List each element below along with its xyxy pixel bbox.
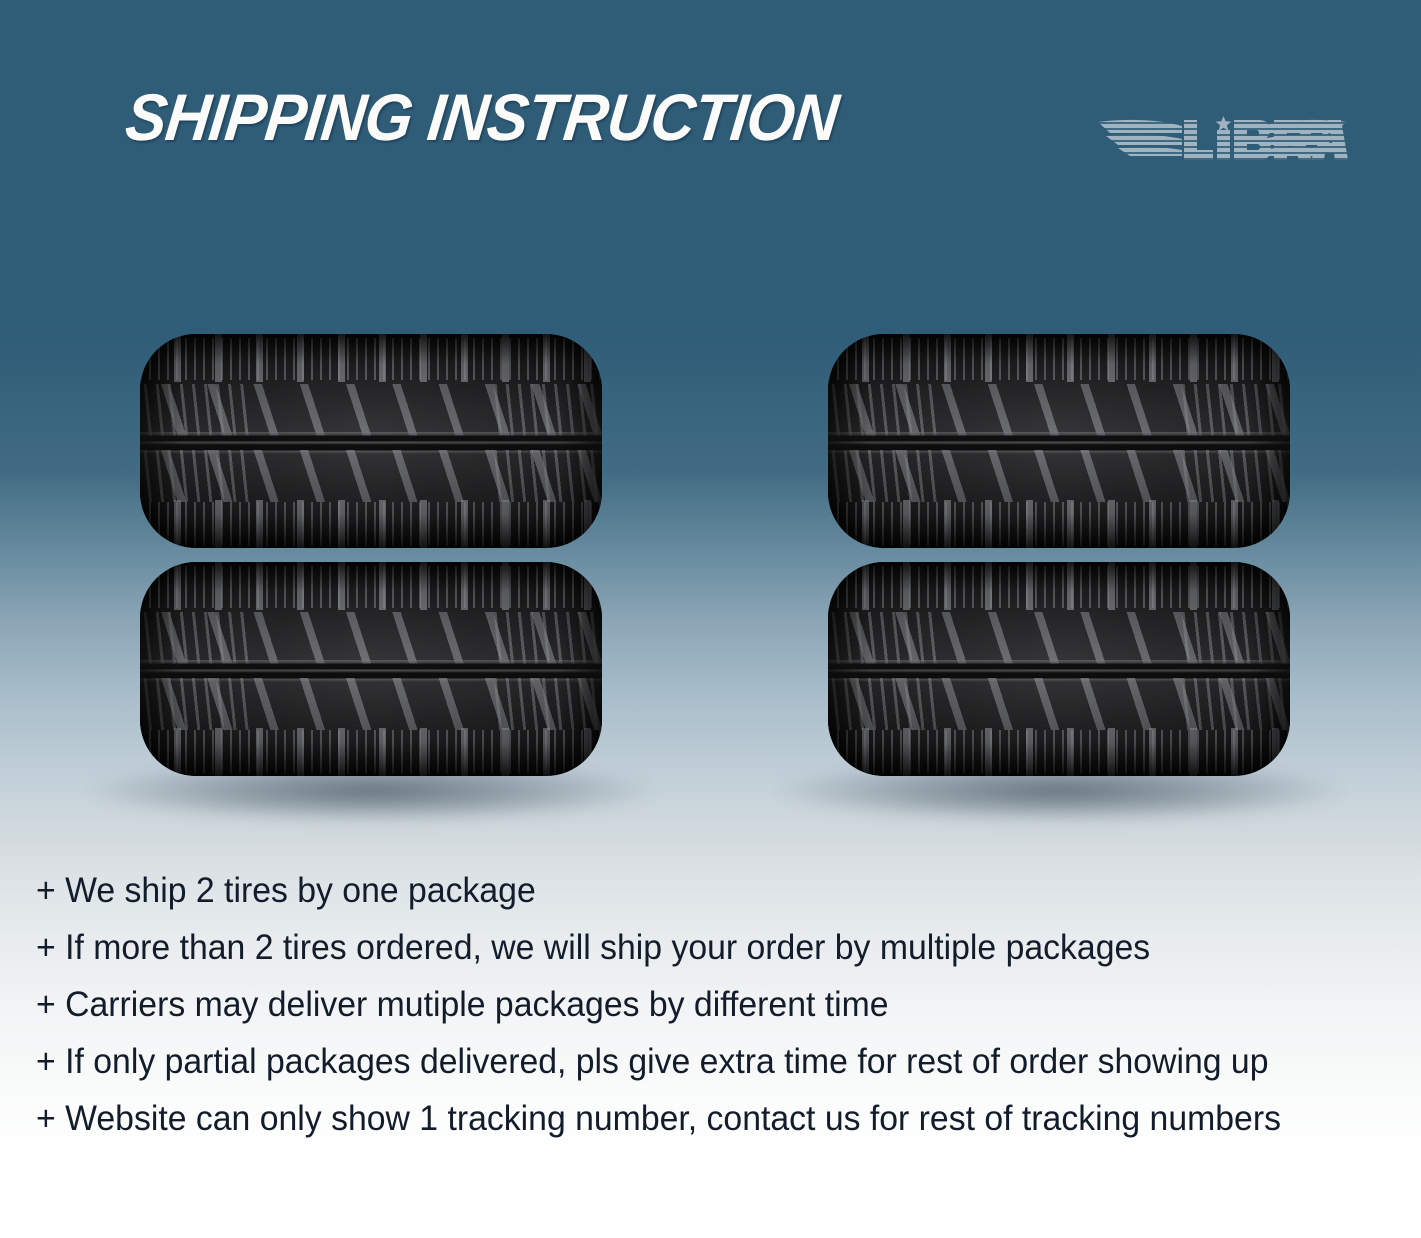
tire-shoulder-lug-top (828, 334, 1290, 382)
tire-image (828, 334, 1290, 548)
tire-tread-row-upper (140, 384, 602, 436)
tire-image (828, 562, 1290, 776)
tire-tread-fine-left (140, 384, 252, 436)
tire-image (140, 334, 602, 548)
tire-tread-row-upper (828, 612, 1290, 664)
tire-tread-fine-left (140, 678, 252, 730)
tire-tread-fine-right (1178, 450, 1290, 502)
instruction-line-1: + We ship 2 tires by one package (36, 862, 1310, 919)
tire-tread-fine-right (1178, 612, 1290, 664)
tire-tread-fine-right (490, 384, 602, 436)
tire-tread-fine-right (490, 450, 602, 502)
tire-image (140, 562, 602, 776)
instruction-line-3: + Carriers may deliver mutiple packages … (36, 976, 1310, 1033)
instruction-line-4: + If only partial packages delivered, pl… (36, 1033, 1310, 1090)
tire-tread-fine-left (828, 450, 940, 502)
tire-shoulder-lug-top (140, 334, 602, 382)
star-icon (1216, 116, 1232, 131)
tire-tread-row-lower (140, 450, 602, 502)
instruction-list: + We ship 2 tires by one package + If mo… (36, 862, 1356, 1147)
tire-tread-row-lower (828, 678, 1290, 730)
tire-tread-fine-right (490, 678, 602, 730)
tire-tread-row-upper (140, 612, 602, 664)
header: SHIPPING INSTRUCTION (0, 0, 1421, 200)
page-title: SHIPPING INSTRUCTION (122, 84, 841, 150)
tire-shoulder-lug-bottom (828, 728, 1290, 776)
right-tire-stack (828, 334, 1290, 776)
tire-tread-row-lower (140, 678, 602, 730)
tire-tread-fine-left (140, 612, 252, 664)
tire-tread-fine-right (1178, 384, 1290, 436)
tire-shoulder-lug-bottom (828, 500, 1290, 548)
winged-star-badge-icon (1096, 100, 1348, 178)
tire-shoulder-lug-top (828, 562, 1290, 610)
tire-tread-fine-left (828, 384, 940, 436)
left-tire-stack (140, 334, 602, 776)
tire-tread-fine-right (490, 612, 602, 664)
tire-tread-fine-left (828, 678, 940, 730)
instruction-line-5: + Website can only show 1 tracking numbe… (36, 1090, 1310, 1147)
tire-shoulder-lug-bottom (140, 500, 602, 548)
tire-shoulder-lug-top (140, 562, 602, 610)
shipping-instruction-banner: SHIPPING INSTRUCTION (0, 0, 1421, 1238)
tire-tread-fine-left (828, 612, 940, 664)
tire-tread-fine-left (140, 450, 252, 502)
tire-tread-row-lower (828, 450, 1290, 502)
tire-tread-row-upper (828, 384, 1290, 436)
tire-shoulder-lug-bottom (140, 728, 602, 776)
tire-tread-fine-right (1178, 678, 1290, 730)
instruction-line-2: + If more than 2 tires ordered, we will … (36, 919, 1310, 976)
libra-logo (1096, 100, 1348, 178)
